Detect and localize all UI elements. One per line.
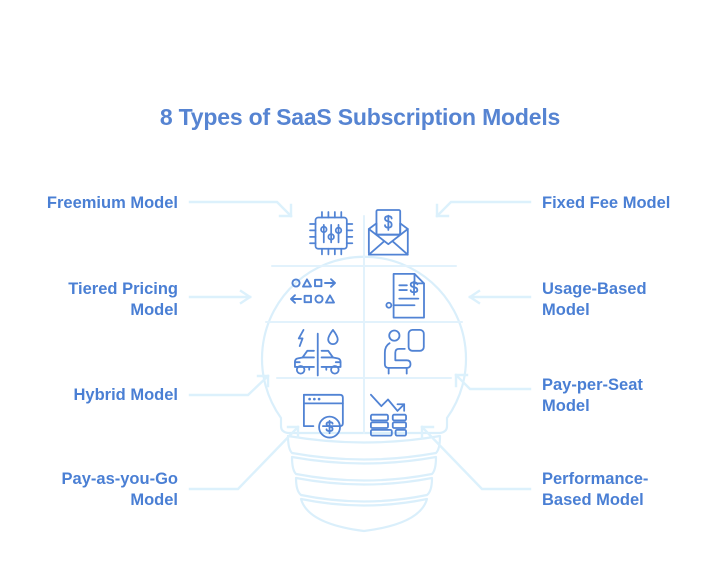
infographic-canvas <box>0 0 720 567</box>
shapes-sorting-icon <box>291 279 335 303</box>
lightbulb-graphic <box>262 216 466 531</box>
arrow-pay-per-seat <box>456 375 530 389</box>
browser-dollar-icon <box>304 395 343 438</box>
bulb-base-band-1 <box>288 436 440 460</box>
invoice-dollar-icon <box>386 274 424 318</box>
person-seat-icon <box>385 330 424 374</box>
declining-chart-coins-icon <box>371 395 406 436</box>
arrow-hybrid <box>190 376 268 395</box>
envelope-dollar-icon <box>369 210 408 255</box>
arrow-freemium <box>190 202 291 216</box>
connector-arrows <box>190 202 530 489</box>
hybrid-car-icon <box>295 330 341 376</box>
microchip-icon <box>310 212 352 254</box>
arrow-pay-as-you-go <box>190 427 298 489</box>
bulb-base-tip <box>301 499 427 531</box>
arrow-fixed-fee <box>437 202 530 216</box>
